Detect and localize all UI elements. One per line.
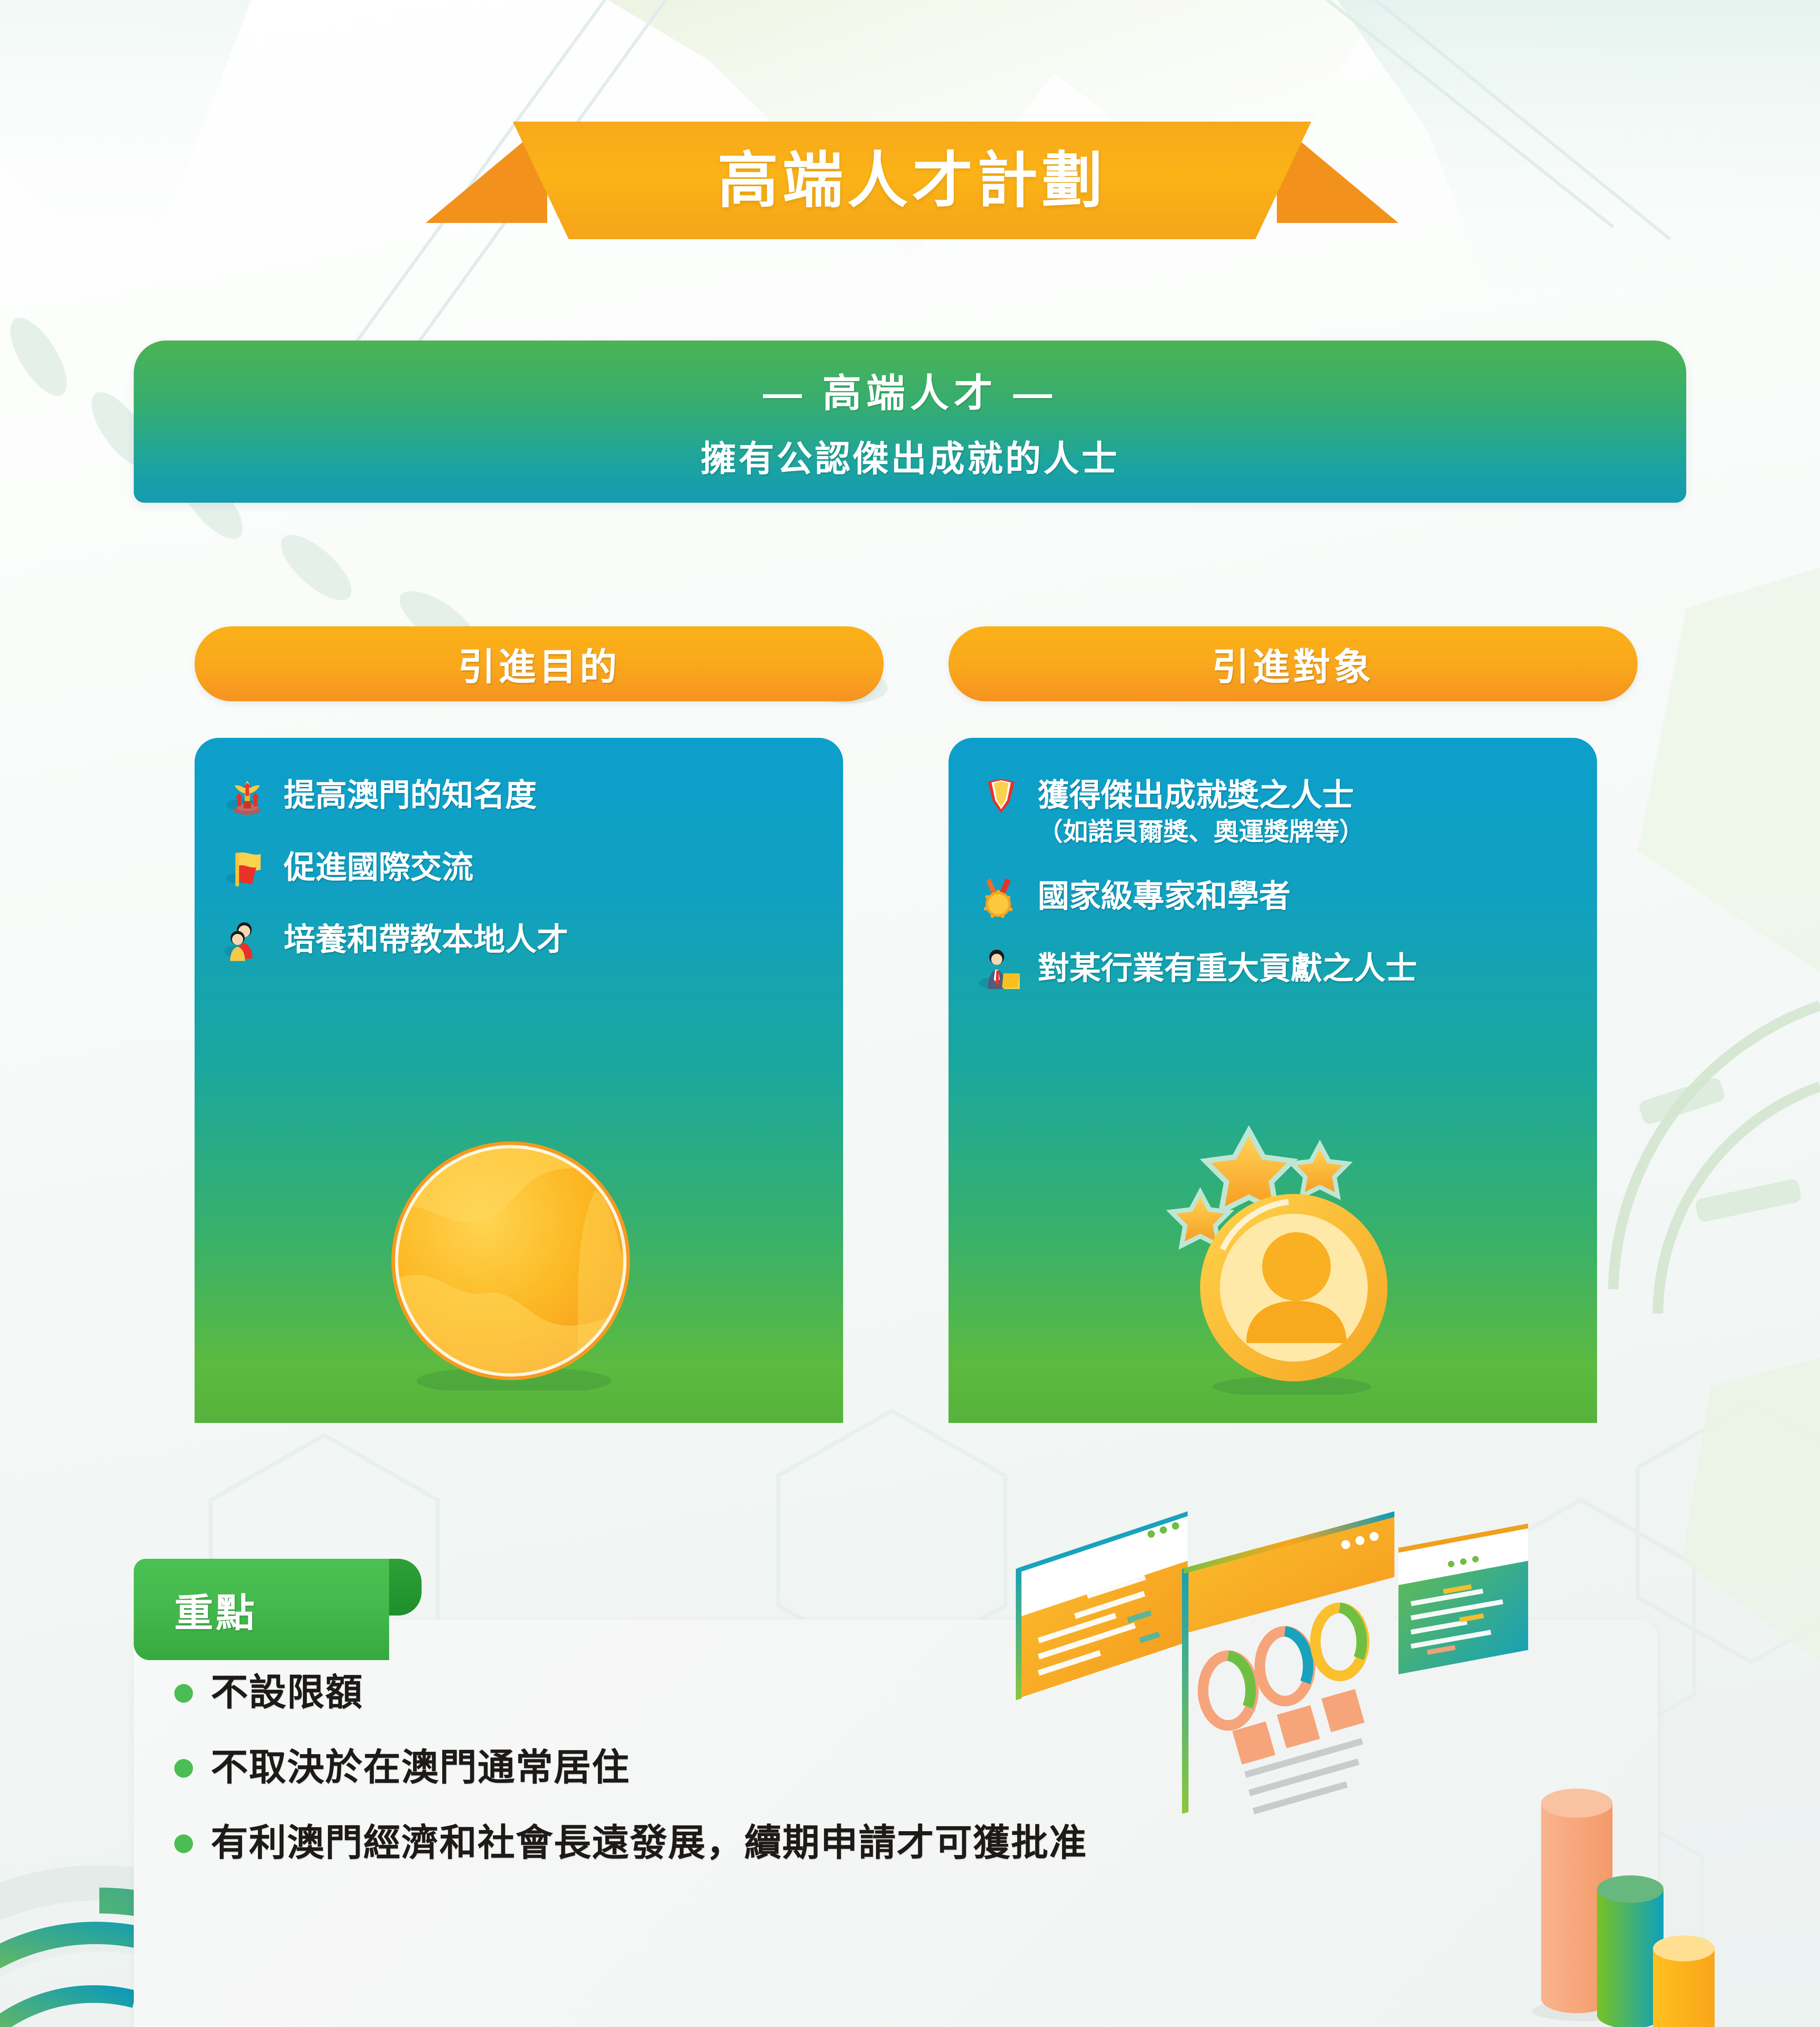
subtitle-heading: — 高端人才 — bbox=[763, 362, 1057, 418]
card-target: 獲得傑出成就獎之人士 （如諾貝爾獎、奧運獎牌等） bbox=[949, 738, 1597, 1423]
key-points-tab-label: 重點 bbox=[174, 1581, 257, 1638]
medal-icon bbox=[977, 875, 1038, 920]
star-person-badge-illustration bbox=[1123, 1111, 1415, 1395]
bullet-dot-icon bbox=[174, 1759, 193, 1778]
award-ribbon-icon bbox=[977, 774, 1038, 819]
list-item: 有利澳門經濟和社會長遠發展，續期申請才可獲批准 bbox=[174, 1821, 1390, 1865]
target-list: 獲得傑出成就獎之人士 （如諾貝爾獎、奧運獎牌等） bbox=[949, 774, 1597, 1020]
ribbon-body: 高端人才計劃 bbox=[513, 122, 1311, 239]
list-item-label: 提高澳門的知名度 bbox=[284, 774, 537, 814]
column-header-purpose: 引進目的 bbox=[195, 626, 884, 701]
list-item-label: 國家級專家和學者 bbox=[1038, 875, 1291, 915]
list-item: 提高澳門的知名度 bbox=[223, 774, 815, 819]
list-item-label: 不設限額 bbox=[211, 1670, 363, 1715]
card-purpose: 提高澳門的知名度 促進國際交流 bbox=[195, 738, 843, 1423]
list-item: 培養和帶教本地人才 bbox=[223, 919, 815, 963]
list-item-sublabel: （如諾貝爾獎、奧運獎牌等） bbox=[1038, 817, 1364, 848]
subtitle-panel: — 高端人才 — 擁有公認傑出成就的人士 bbox=[134, 341, 1686, 503]
list-item: 國家級專家和學者 bbox=[977, 875, 1569, 920]
businessman-icon bbox=[977, 947, 1038, 992]
list-item: 促進國際交流 bbox=[223, 846, 815, 891]
list-item-label: 培養和帶教本地人才 bbox=[284, 919, 568, 959]
people-group-icon bbox=[223, 919, 284, 963]
key-points-list: 不設限額 不取決於在澳門通常居住 有利澳門經濟和社會長遠發展，續期申請才可獲批准 bbox=[174, 1670, 1390, 1896]
flag-exchange-icon bbox=[223, 846, 284, 891]
list-item: 獲得傑出成就獎之人士 （如諾貝爾獎、奧運獎牌等） bbox=[977, 774, 1569, 848]
globe-illustration bbox=[381, 1131, 640, 1391]
lotus-growth-icon bbox=[223, 774, 284, 819]
list-item-label: 對某行業有重大貢獻之人士 bbox=[1038, 947, 1417, 988]
subtitle-description: 擁有公認傑出成就的人士 bbox=[700, 430, 1120, 482]
column-header-purpose-label: 引進目的 bbox=[458, 637, 620, 691]
list-item-label: 有利澳門經濟和社會長遠發展，續期申請才可獲批准 bbox=[211, 1821, 1087, 1865]
infographic-page: 高端人才計劃 — 高端人才 — 擁有公認傑出成就的人士 引進目的 引進對象 bbox=[0, 0, 1820, 2027]
column-header-target: 引進對象 bbox=[949, 626, 1638, 701]
list-item-label: 不取決於在澳門通常居住 bbox=[211, 1745, 630, 1790]
bullet-dot-icon bbox=[174, 1834, 193, 1853]
title-banner: 高端人才計劃 bbox=[0, 122, 1820, 243]
purpose-list: 提高澳門的知名度 促進國際交流 bbox=[195, 774, 843, 991]
column-header-target-label: 引進對象 bbox=[1212, 637, 1374, 691]
list-item: 對某行業有重大貢獻之人士 bbox=[977, 947, 1569, 992]
list-item: 不取決於在澳門通常居住 bbox=[174, 1745, 1390, 1790]
list-item-label: 促進國際交流 bbox=[284, 846, 473, 887]
key-points-tab: 重點 bbox=[134, 1559, 389, 1660]
list-item-label: 獲得傑出成就獎之人士 bbox=[1038, 777, 1354, 813]
page-title: 高端人才計劃 bbox=[717, 150, 1107, 211]
bullet-dot-icon bbox=[174, 1684, 193, 1703]
cylinder-bars-illustration bbox=[1496, 1731, 1788, 2027]
list-item: 不設限額 bbox=[174, 1670, 1390, 1715]
